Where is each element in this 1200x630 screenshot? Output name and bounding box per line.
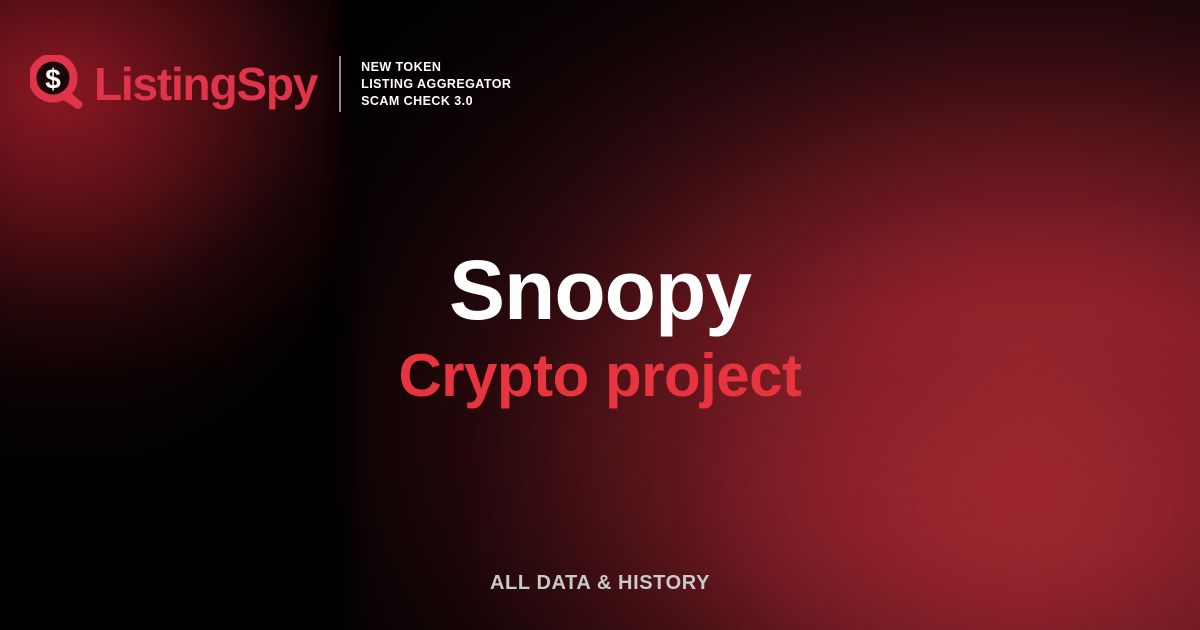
brand-header: $ ListingSpy NEW TOKEN LISTING AGGREGATO… — [30, 55, 511, 113]
tagline-line-1: NEW TOKEN — [361, 60, 511, 75]
tagline-line-3: SCAM CHECK 3.0 — [361, 94, 511, 109]
magnifier-dollar-icon: $ — [30, 55, 88, 113]
footer-text: ALL DATA & HISTORY — [0, 573, 1200, 593]
header-divider — [339, 56, 341, 112]
promo-banner: $ ListingSpy NEW TOKEN LISTING AGGREGATO… — [0, 0, 1200, 630]
footer: ALL DATA & HISTORY — [0, 573, 1200, 593]
svg-text:$: $ — [45, 64, 61, 95]
brand-tagline: NEW TOKEN LISTING AGGREGATOR SCAM CHECK … — [361, 60, 511, 109]
main-content: Snoopy Crypto project — [0, 248, 1200, 406]
tagline-line-2: LISTING AGGREGATOR — [361, 77, 511, 92]
token-name: Snoopy — [0, 248, 1200, 332]
token-subtitle: Crypto project — [0, 346, 1200, 406]
brand-name: ListingSpy — [94, 61, 317, 107]
